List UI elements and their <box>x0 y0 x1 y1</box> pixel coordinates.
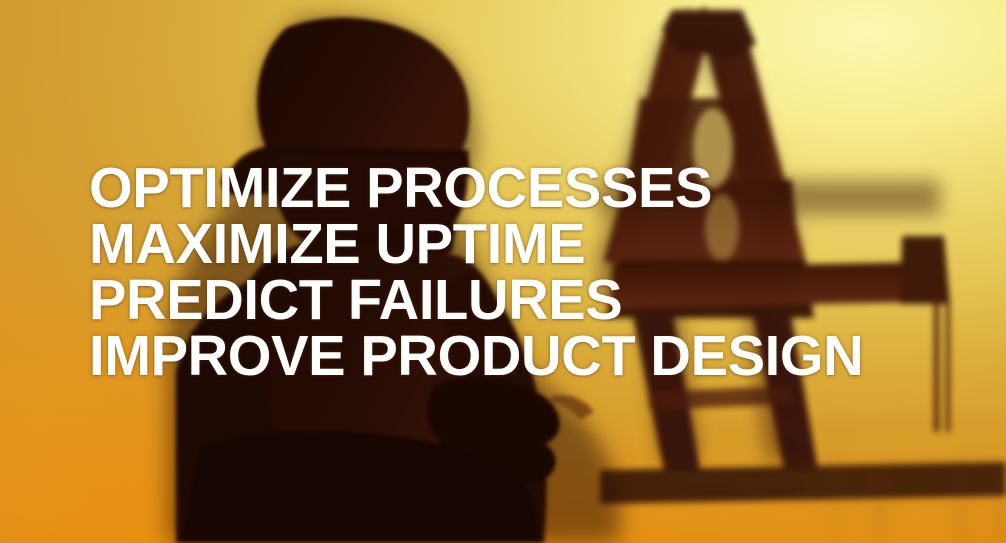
headline-line-1: OPTIMIZE PROCESSES <box>89 160 976 216</box>
headline-line-2: MAXIMIZE UPTIME <box>89 216 976 272</box>
headline-line-3: PREDICT FAILURES <box>89 272 976 328</box>
hero-banner: OPTIMIZE PROCESSES MAXIMIZE UPTIME PREDI… <box>0 0 1006 543</box>
headline-block: OPTIMIZE PROCESSES MAXIMIZE UPTIME PREDI… <box>89 160 989 384</box>
headline-line-4: IMPROVE PRODUCT DESIGN <box>89 328 976 384</box>
